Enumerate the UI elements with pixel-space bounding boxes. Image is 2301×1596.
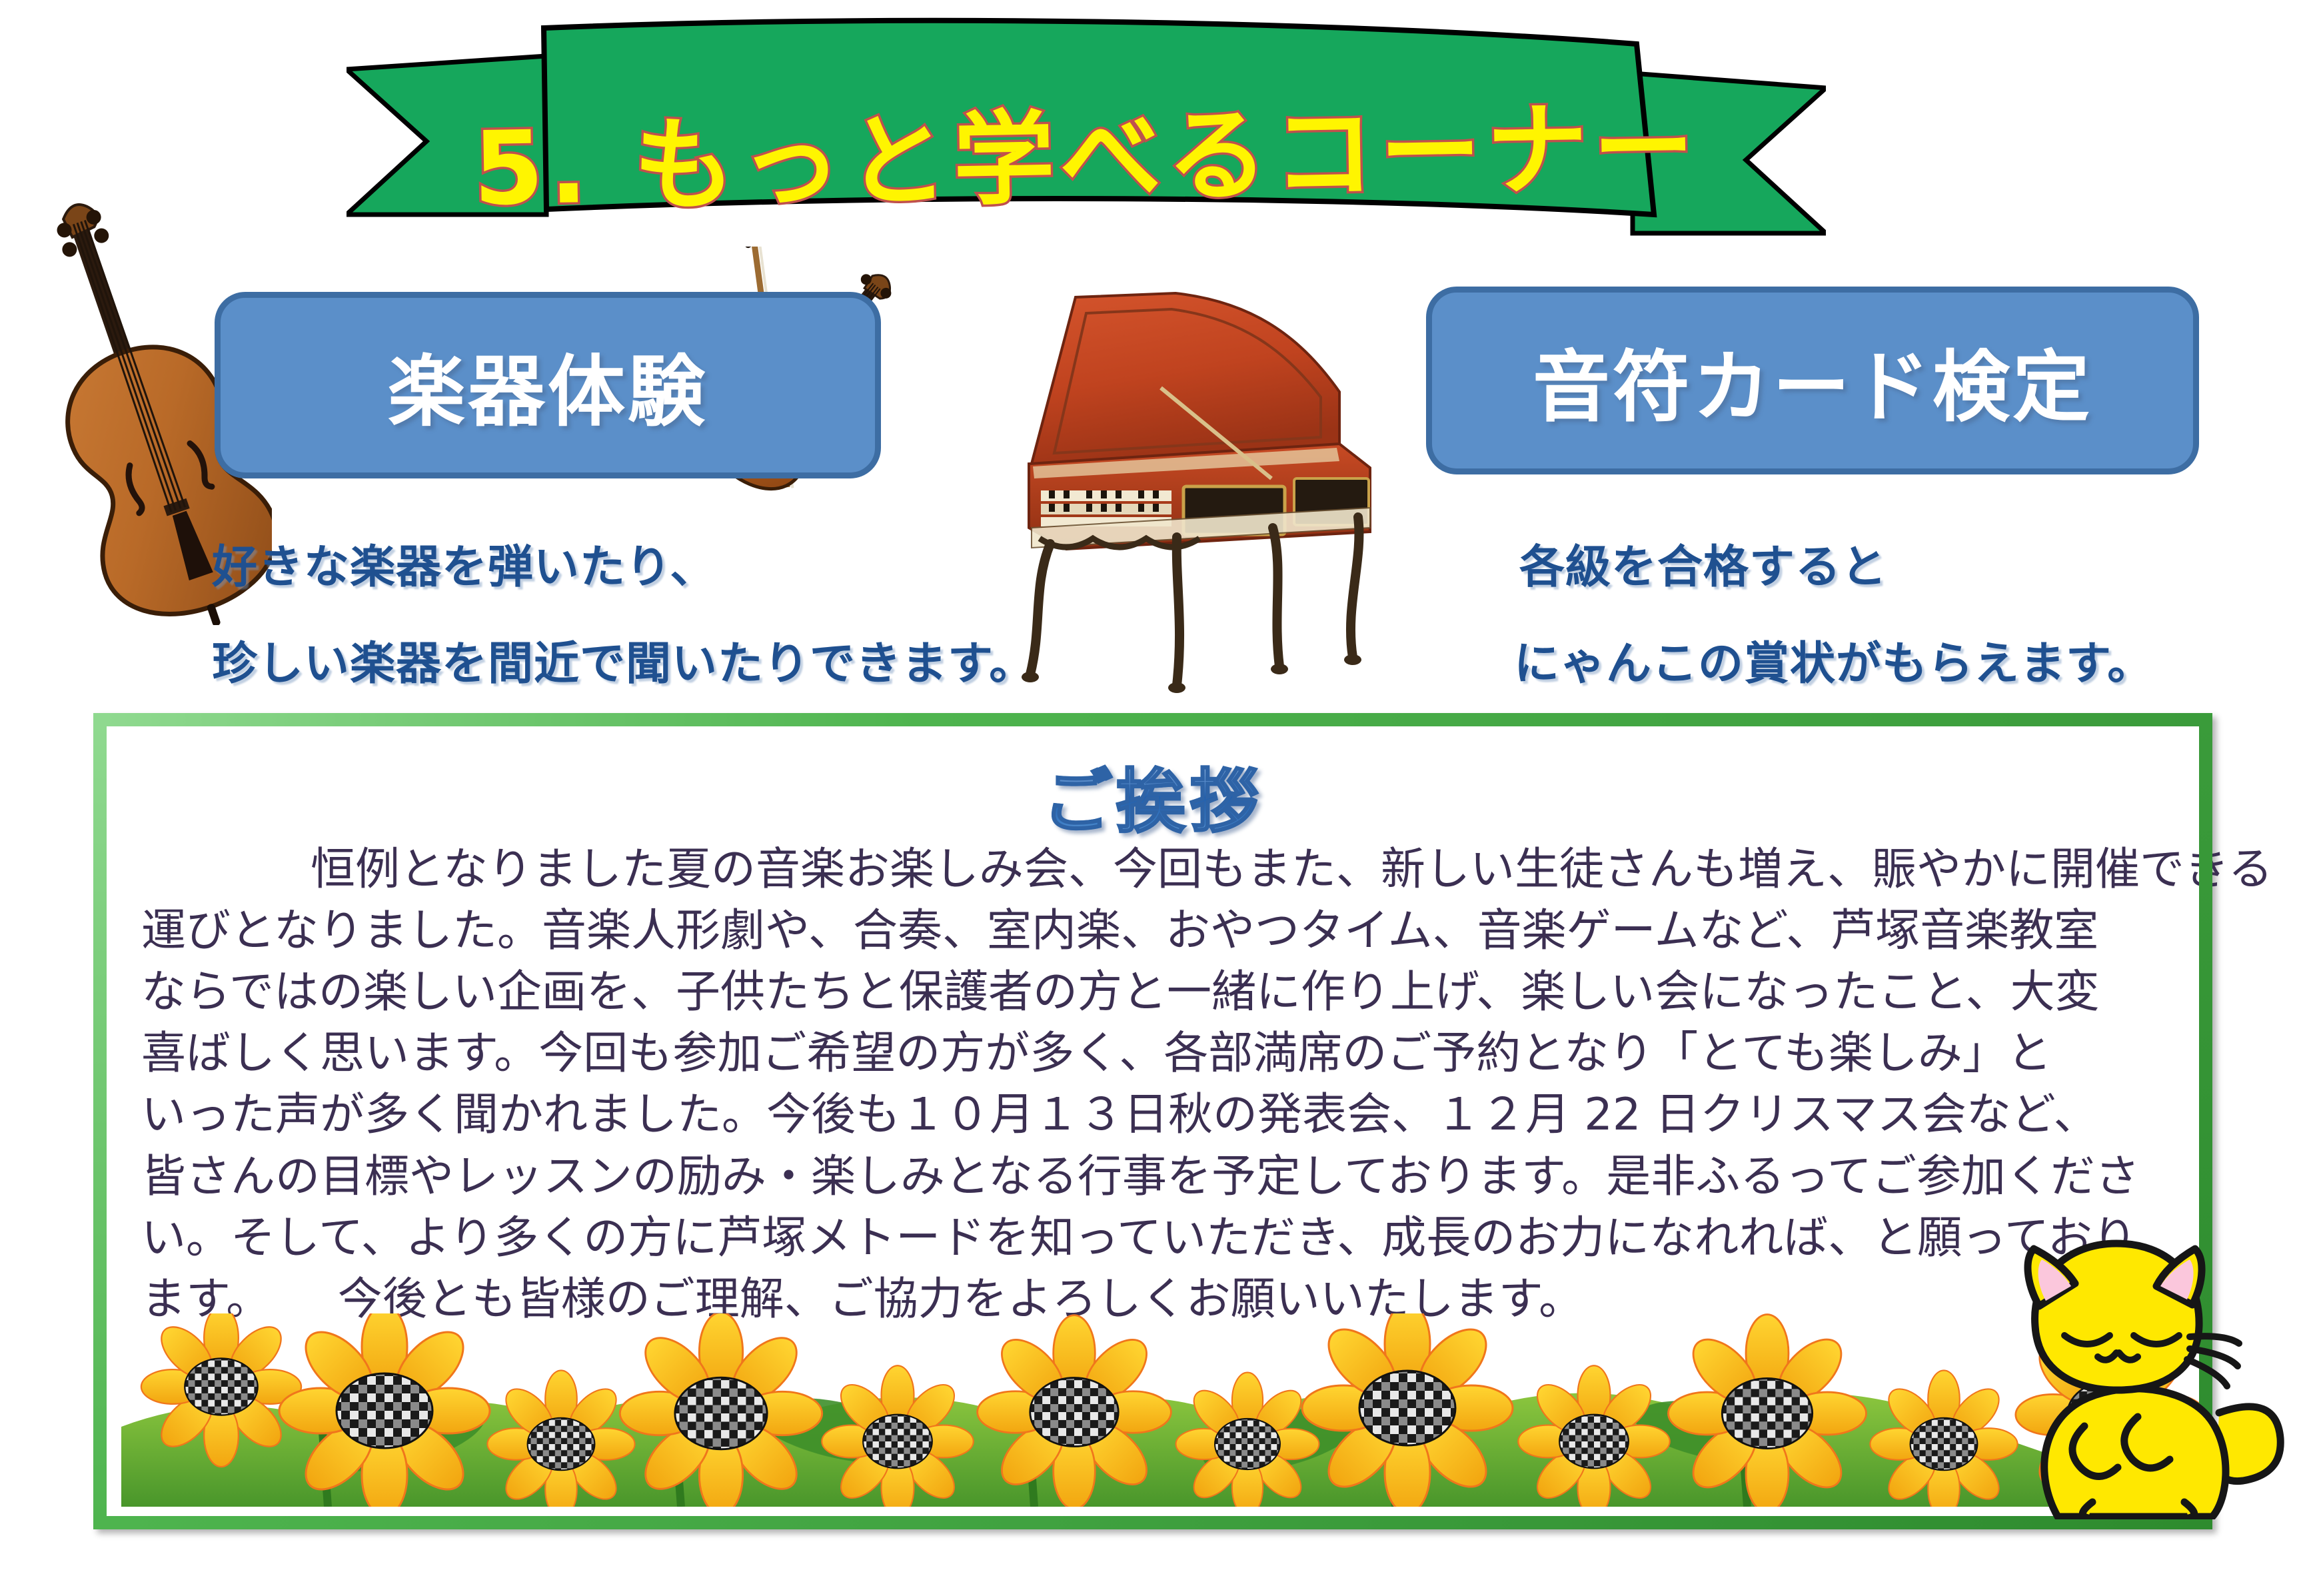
greeting-line: 皆さんの目標やレッスンの励み・楽しみとなる行事を予定しております。是非ふるってご… [141, 1147, 2147, 1206]
greeting-line: 喜ばしく思います。今回も参加ご希望の方が多く、各部満席のご予約となり「とても楽し… [141, 1024, 2147, 1083]
section-heading-instrument-experience[interactable]: 楽器体験 [215, 292, 881, 478]
section-heading-label: 楽器体験 [388, 329, 708, 441]
greeting-heading: ご挨拶 [107, 745, 2199, 846]
poster-canvas: 5. もっと学べるコーナー [0, 0, 2301, 1596]
caption-instrument-line-1: 好きな楽器を弾いたり、 [212, 530, 716, 596]
section-heading-note-card-certification[interactable]: 音符カード検定 [1426, 287, 2199, 474]
greeting-line: 恒例となりました夏の音楽お楽しみ会、今回もまた、新しい生徒さんも増え、賑やかに開… [141, 840, 2147, 899]
banner-ribbon: 5. もっと学べるコーナー [347, 15, 1826, 255]
greeting-line: いった声が多く聞かれました。今後も１０月１３日秋の発表会、１２月 22 日クリス… [141, 1085, 2147, 1144]
harpsichord-photo [993, 267, 1399, 706]
section-heading-label: 音符カード検定 [1533, 325, 2092, 436]
caption-certification-line-2: にゃんこの賞状がもらえます。 [1514, 626, 2153, 692]
sunflower-border-illustration [121, 1313, 2200, 1507]
banner-title: 5. もっと学べるコーナー [345, 63, 1827, 236]
greeting-panel: ご挨拶 恒例となりました夏の音楽お楽しみ会、今回もまた、新しい生徒さんも増え、賑… [93, 713, 2212, 1529]
greeting-line: 運びとなりました。音楽人形劇や、合奏、室内楽、おやつタイム、音楽ゲームなど、芦塚… [141, 901, 2147, 960]
caption-instrument-line-2: 珍しい楽器を間近で聞いたりできます。 [212, 626, 1035, 692]
greeting-line: い。そして、より多くの方に芦塚メトードを知っていただき、成長のお力になれれば、と… [141, 1208, 2147, 1267]
cat-mascot-illustration [1992, 1226, 2301, 1519]
caption-certification-line-1: 各級を合格すると [1519, 530, 1887, 596]
greeting-paragraph: 恒例となりました夏の音楽お楽しみ会、今回もまた、新しい生徒さんも増え、賑やかに開… [141, 840, 2147, 1331]
greeting-line: ならではの楽しい企画を、子供たちと保護者の方と一緒に作り上げ、楽しい会になったこ… [141, 962, 2147, 1022]
